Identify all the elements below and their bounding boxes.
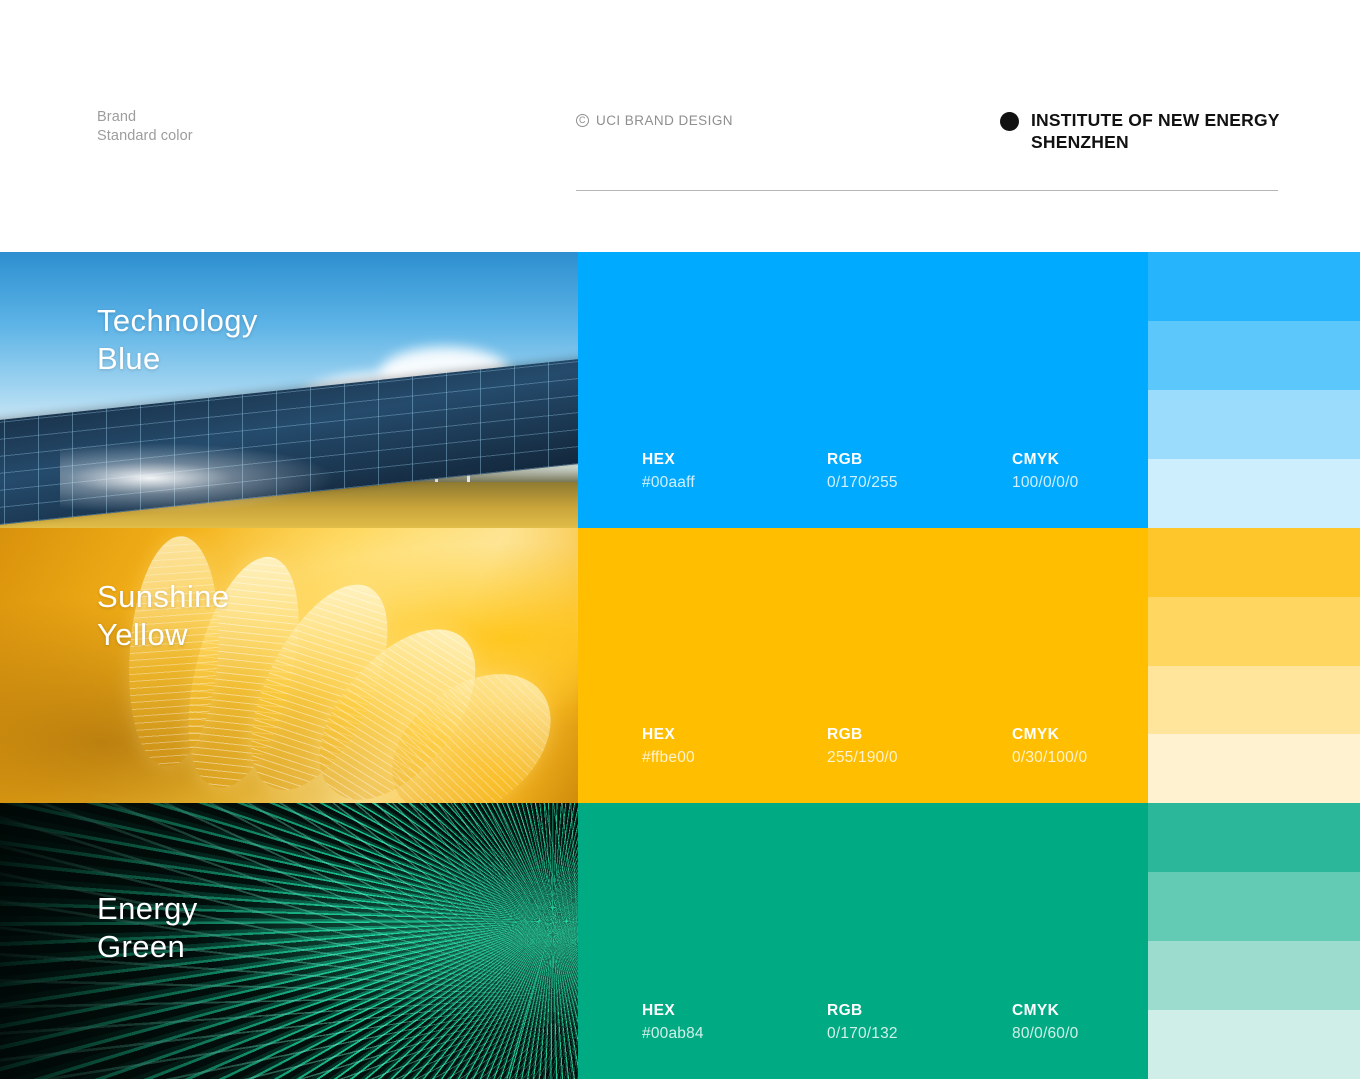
organization-logo: INSTITUTE OF NEW ENERGY SHENZHEN [1000,109,1280,153]
solar-wind-farm-image [0,252,578,528]
copyright-credit: C UCI BRAND DESIGN [576,113,733,128]
spec-rgb-label: RGB [827,449,1012,471]
palette-row-technology-blue: Technology Blue HEX #00aaff RGB 0/170/25… [0,252,1360,528]
spec-hex-label: HEX [642,724,827,746]
tint-swatch [1148,872,1360,941]
tint-swatch [1148,459,1360,528]
spec-hex-value: #ffbe00 [642,746,827,770]
swatch-image-sunshine-yellow: Sunshine Yellow [0,528,578,804]
green-fiber-texture-image [0,803,578,1079]
color-palette: Technology Blue HEX #00aaff RGB 0/170/25… [0,252,1360,1079]
tint-swatch [1148,252,1360,321]
color-specs-energy-green: HEX #00ab84 RGB 0/170/132 CMYK 80/0/60/0 [642,1000,1197,1046]
spec-hex-label: HEX [642,449,827,471]
spec-rgb-label: RGB [827,724,1012,746]
copyright-credit-text: UCI BRAND DESIGN [596,113,733,128]
swatch-image-technology-blue: Technology Blue [0,252,578,528]
tint-swatch [1148,390,1360,459]
tint-ramp-technology-blue [1148,252,1360,528]
palette-row-energy-green: Energy Green HEX #00ab84 RGB 0/170/132 C… [0,803,1360,1079]
tint-swatch [1148,803,1360,872]
organization-name: INSTITUTE OF NEW ENERGY [1031,109,1280,131]
tint-swatch [1148,528,1360,597]
color-name-line2: Blue [97,340,258,378]
color-name-sunshine-yellow: Sunshine Yellow [97,578,229,654]
color-name-energy-green: Energy Green [97,890,198,966]
spec-rgb-value: 255/190/0 [827,746,1012,770]
spec-rgb-value: 0/170/132 [827,1022,1012,1046]
swatch-image-energy-green: Energy Green [0,803,578,1079]
header-divider [576,190,1278,191]
spec-hex-label: HEX [642,1000,827,1022]
tint-ramp-energy-green [1148,803,1360,1079]
tint-swatch [1148,666,1360,735]
organization-location: SHENZHEN [1031,131,1280,153]
tint-swatch [1148,597,1360,666]
color-swatch-sunshine-yellow: HEX #ffbe00 RGB 255/190/0 CMYK 0/30/100/… [578,528,1148,804]
tint-swatch [1148,734,1360,803]
tint-swatch [1148,941,1360,1010]
tint-swatch [1148,1010,1360,1079]
brand-title: Brand Standard color [97,108,193,146]
spec-hex: HEX #00aaff [642,449,827,495]
copyright-icon: C [576,114,589,127]
color-name-line1: Energy [97,890,198,928]
color-name-line1: Technology [97,302,258,340]
color-swatch-technology-blue: HEX #00aaff RGB 0/170/255 CMYK 100/0/0/0 [578,252,1148,528]
sun-reflection-decoration [60,438,360,518]
color-name-line2: Green [97,928,198,966]
tint-swatch [1148,321,1360,390]
color-specs-sunshine-yellow: HEX #ffbe00 RGB 255/190/0 CMYK 0/30/100/… [642,724,1197,770]
palette-row-sunshine-yellow: Sunshine Yellow HEX #ffbe00 RGB 255/190/… [0,528,1360,804]
spec-hex-value: #00aaff [642,471,827,495]
color-name-line2: Yellow [97,616,229,654]
organization-logo-text: INSTITUTE OF NEW ENERGY SHENZHEN [1031,109,1280,153]
sunflower-petal-image [0,528,578,804]
page-header: Brand Standard color C UCI BRAND DESIGN … [0,0,1360,252]
spec-rgb-value: 0/170/255 [827,471,1012,495]
tint-ramp-sunshine-yellow [1148,528,1360,804]
spec-rgb: RGB 0/170/132 [827,1000,1012,1046]
color-name-technology-blue: Technology Blue [97,302,258,378]
spec-rgb: RGB 0/170/255 [827,449,1012,495]
brand-title-line1: Brand [97,108,193,127]
circle-dot-icon [1000,112,1019,131]
spec-rgb-label: RGB [827,1000,1012,1022]
spec-hex: HEX #00ab84 [642,1000,827,1046]
brand-title-line2: Standard color [97,127,193,146]
spec-rgb: RGB 255/190/0 [827,724,1012,770]
color-specs-technology-blue: HEX #00aaff RGB 0/170/255 CMYK 100/0/0/0 [642,449,1197,495]
spec-hex-value: #00ab84 [642,1022,827,1046]
color-name-line1: Sunshine [97,578,229,616]
color-swatch-energy-green: HEX #00ab84 RGB 0/170/132 CMYK 80/0/60/0 [578,803,1148,1079]
spec-hex: HEX #ffbe00 [642,724,827,770]
